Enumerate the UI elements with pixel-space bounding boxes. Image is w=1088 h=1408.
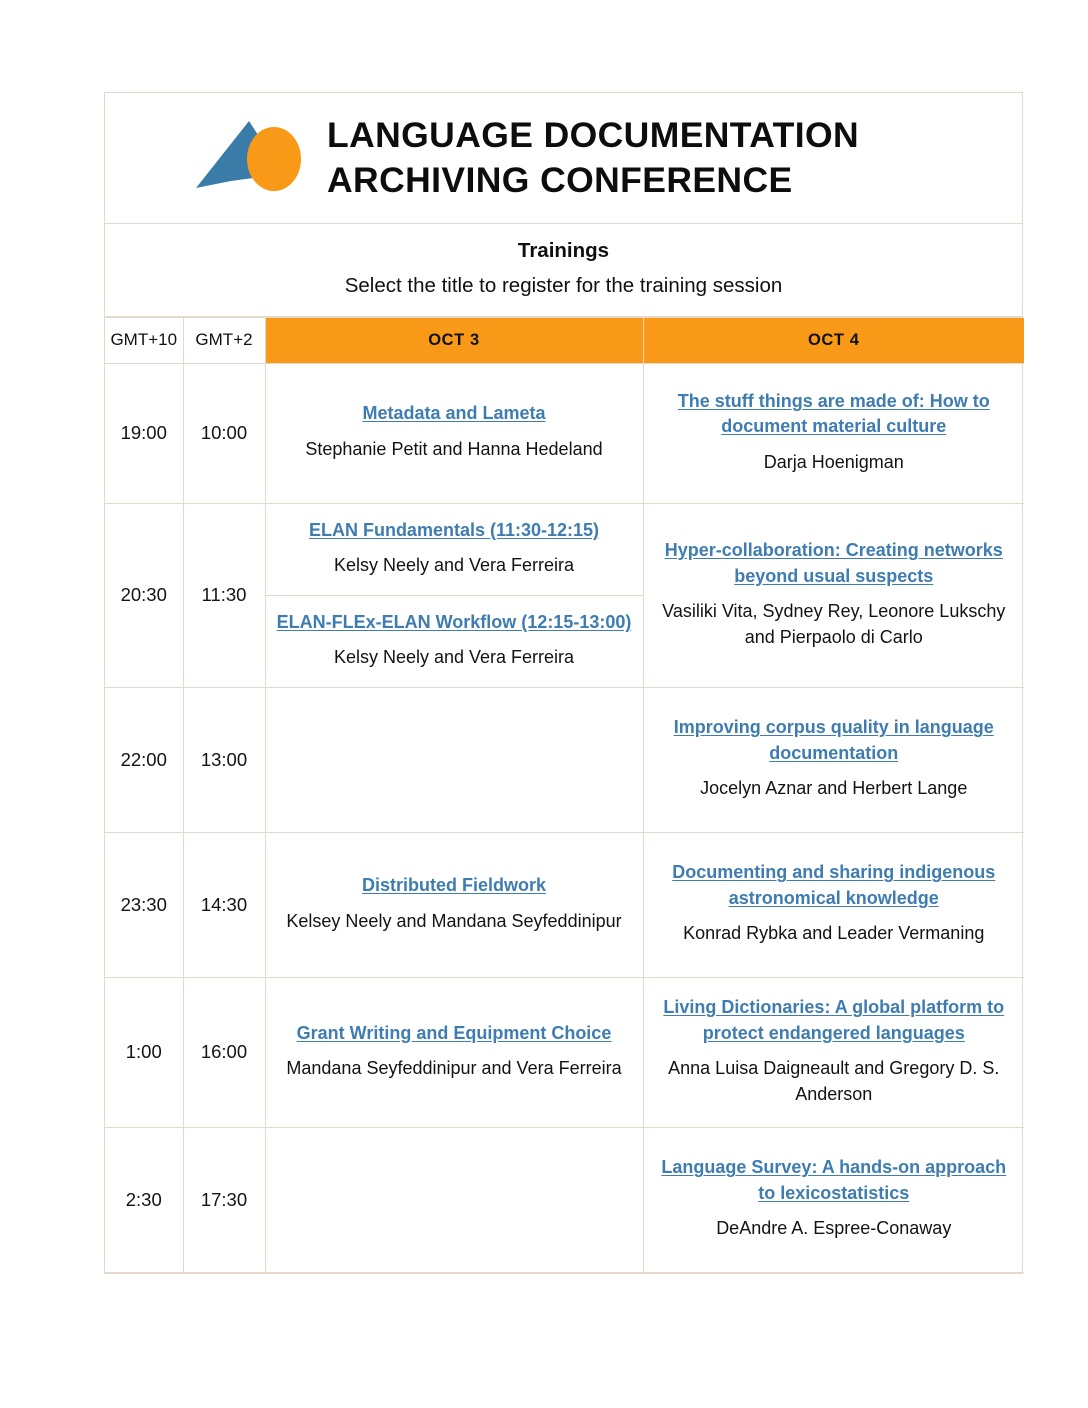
session-presenters: Kelsy Neely and Vera Ferreira bbox=[274, 645, 635, 671]
time-cell-gmt10: 22:00 bbox=[105, 687, 183, 832]
session-block: Improving corpus quality in language doc… bbox=[652, 711, 1017, 808]
grid-header: GMT+10 GMT+2 OCT 3 OCT 4 bbox=[105, 317, 1024, 363]
schedule-row: 1:0016:00Grant Writing and Equipment Cho… bbox=[105, 977, 1024, 1127]
session-title-link[interactable]: Grant Writing and Equipment Choice bbox=[297, 1021, 612, 1047]
session-cell-oct4: Improving corpus quality in language doc… bbox=[643, 687, 1024, 832]
session-presenters: Darja Hoenigman bbox=[654, 450, 1015, 476]
session-presenters: Konrad Rybka and Leader Vermaning bbox=[654, 921, 1015, 947]
session-title-link[interactable]: Improving corpus quality in language doc… bbox=[654, 715, 1015, 766]
grid-body: 19:0010:00Metadata and LametaStephanie P… bbox=[105, 363, 1024, 1272]
time-cell-gmt2: 17:30 bbox=[183, 1127, 265, 1272]
session-presenters: Stephanie Petit and Hanna Hedeland bbox=[276, 437, 633, 463]
session-presenters: DeAndre A. Espree-Conaway bbox=[654, 1216, 1015, 1242]
session-title-link[interactable]: Distributed Fieldwork bbox=[362, 873, 546, 899]
session-cell-oct3: Distributed FieldworkKelsey Neely and Ma… bbox=[265, 832, 643, 977]
column-header-oct3: OCT 3 bbox=[265, 317, 643, 363]
session-title-link[interactable]: Hyper-collaboration: Creating networks b… bbox=[654, 538, 1015, 589]
trainings-banner: Trainings Select the title to register f… bbox=[105, 224, 1022, 317]
session-block: Grant Writing and Equipment ChoiceMandan… bbox=[274, 1017, 635, 1088]
session-block: Metadata and LametaStephanie Petit and H… bbox=[274, 397, 635, 468]
session-presenters: Kelsey Neely and Mandana Seyfeddinipur bbox=[276, 909, 633, 935]
session-cell-oct4: Hyper-collaboration: Creating networks b… bbox=[643, 503, 1024, 687]
session-presenters: Mandana Seyfeddinipur and Vera Ferreira bbox=[276, 1056, 633, 1082]
session-block: ELAN Fundamentals (11:30-12:15)Kelsy Nee… bbox=[266, 504, 643, 596]
session-cell-oct4: Language Survey: A hands-on approach to … bbox=[643, 1127, 1024, 1272]
session-presenters: Vasiliki Vita, Sydney Rey, Leonore Luksc… bbox=[654, 599, 1015, 650]
session-title-link[interactable]: ELAN Fundamentals (11:30-12:15) bbox=[309, 518, 599, 544]
session-cell-oct3 bbox=[265, 1127, 643, 1272]
session-block: ELAN-FLEx-ELAN Workflow (12:15-13:00)Kel… bbox=[266, 596, 643, 687]
session-block: Hyper-collaboration: Creating networks b… bbox=[652, 534, 1017, 656]
session-title-link[interactable]: Language Survey: A hands-on approach to … bbox=[654, 1155, 1015, 1206]
schedule-row: 2:3017:30Language Survey: A hands-on app… bbox=[105, 1127, 1024, 1272]
conference-title: LANGUAGE DOCUMENTATION ARCHIVING CONFERE… bbox=[327, 113, 859, 204]
time-cell-gmt2: 10:00 bbox=[183, 363, 265, 503]
time-cell-gmt2: 11:30 bbox=[183, 503, 265, 687]
session-title-link[interactable]: Living Dictionaries: A global platform t… bbox=[654, 995, 1015, 1046]
session-presenters: Kelsy Neely and Vera Ferreira bbox=[274, 553, 635, 579]
schedule-row: 22:0013:00Improving corpus quality in la… bbox=[105, 687, 1024, 832]
session-cell-oct3: Grant Writing and Equipment ChoiceMandan… bbox=[265, 977, 643, 1127]
session-cell-oct3: Metadata and LametaStephanie Petit and H… bbox=[265, 363, 643, 503]
banner-subtitle: Select the title to register for the tra… bbox=[105, 271, 1022, 302]
schedule-row: 20:3011:30ELAN Fundamentals (11:30-12:15… bbox=[105, 503, 1024, 687]
session-block: Distributed FieldworkKelsey Neely and Ma… bbox=[274, 869, 635, 940]
time-cell-gmt10: 1:00 bbox=[105, 977, 183, 1127]
session-block: The stuff things are made of: How to doc… bbox=[652, 385, 1017, 482]
session-presenters: Anna Luisa Daigneault and Gregory D. S. … bbox=[654, 1056, 1015, 1107]
session-block: Living Dictionaries: A global platform t… bbox=[652, 991, 1017, 1113]
time-cell-gmt2: 13:00 bbox=[183, 687, 265, 832]
session-cell-oct3: ELAN Fundamentals (11:30-12:15)Kelsy Nee… bbox=[265, 503, 643, 687]
time-cell-gmt10: 20:30 bbox=[105, 503, 183, 687]
time-cell-gmt10: 19:00 bbox=[105, 363, 183, 503]
time-cell-gmt2: 14:30 bbox=[183, 832, 265, 977]
trainings-grid: GMT+10 GMT+2 OCT 3 OCT 4 19:0010:00Metad… bbox=[105, 317, 1024, 1273]
session-cell-oct4: Documenting and sharing indigenous astro… bbox=[643, 832, 1024, 977]
session-cell-oct4: Living Dictionaries: A global platform t… bbox=[643, 977, 1024, 1127]
header-row: GMT+10 GMT+2 OCT 3 OCT 4 bbox=[105, 317, 1024, 363]
time-cell-gmt10: 23:30 bbox=[105, 832, 183, 977]
column-header-gmt10: GMT+10 bbox=[105, 317, 183, 363]
session-title-link[interactable]: Documenting and sharing indigenous astro… bbox=[654, 860, 1015, 911]
ldac-logo-icon bbox=[191, 112, 313, 204]
schedule-row: 23:3014:30Distributed FieldworkKelsey Ne… bbox=[105, 832, 1024, 977]
session-block: Documenting and sharing indigenous astro… bbox=[652, 856, 1017, 953]
banner-title: Trainings bbox=[105, 236, 1022, 267]
schedule-row: 19:0010:00Metadata and LametaStephanie P… bbox=[105, 363, 1024, 503]
column-header-gmt2: GMT+2 bbox=[183, 317, 265, 363]
schedule-page: LANGUAGE DOCUMENTATION ARCHIVING CONFERE… bbox=[0, 0, 1088, 1408]
session-title-link[interactable]: Metadata and Lameta bbox=[362, 401, 545, 427]
session-cell-oct3 bbox=[265, 687, 643, 832]
time-cell-gmt2: 16:00 bbox=[183, 977, 265, 1127]
conference-header: LANGUAGE DOCUMENTATION ARCHIVING CONFERE… bbox=[105, 93, 1022, 224]
session-title-link[interactable]: ELAN-FLEx-ELAN Workflow (12:15-13:00) bbox=[277, 610, 632, 636]
session-cell-oct4: The stuff things are made of: How to doc… bbox=[643, 363, 1024, 503]
time-cell-gmt10: 2:30 bbox=[105, 1127, 183, 1272]
conference-schedule-table: LANGUAGE DOCUMENTATION ARCHIVING CONFERE… bbox=[104, 92, 1023, 1274]
session-block: Language Survey: A hands-on approach to … bbox=[652, 1151, 1017, 1248]
session-presenters: Jocelyn Aznar and Herbert Lange bbox=[654, 776, 1015, 802]
session-title-link[interactable]: The stuff things are made of: How to doc… bbox=[654, 389, 1015, 440]
column-header-oct4: OCT 4 bbox=[643, 317, 1024, 363]
